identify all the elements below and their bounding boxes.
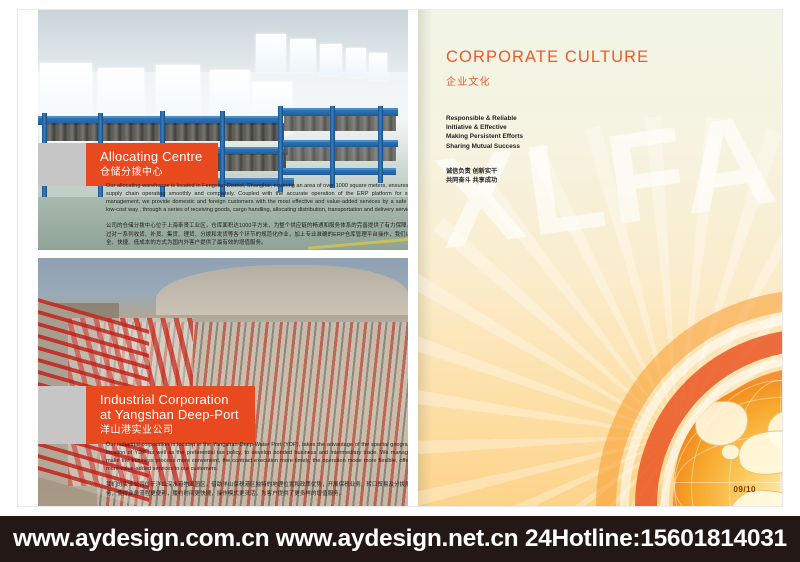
body-text-cn: 我们的实业公司位于洋山深水港物流园区，借助洋山保税港区独特的地理位置和政策优势，…: [106, 481, 408, 498]
value-item: Initiative & Effective: [446, 123, 746, 132]
caption-gray-tab: [38, 143, 86, 186]
value-item: 诚信负责 创新实干: [446, 167, 746, 176]
body-text-en: Our allocating warehouse is located in F…: [106, 182, 408, 214]
page-title: CORPORATE CULTURE: [446, 48, 746, 67]
page-subtitle: 企业文化: [446, 73, 746, 88]
caption-title-en: Allocating Centre: [100, 149, 202, 164]
page-frame: Allocating Centre 仓储分拨中心 Our allocating …: [18, 10, 782, 506]
value-item: Making Persistent Efforts: [446, 132, 746, 141]
section-allocating-centre: Allocating Centre 仓储分拨中心 Our allocating …: [38, 10, 408, 250]
caption-title-cn: 洋山港实业公司: [100, 424, 239, 437]
section-yangshan-deep-port: Industrial Corporation at Yangshan Deep-…: [38, 258, 408, 506]
left-page: Allocating Centre 仓储分拨中心 Our allocating …: [18, 10, 418, 506]
brochure-spread: Allocating Centre 仓储分拨中心 Our allocating …: [0, 0, 800, 516]
caption-gray-tab: [38, 386, 86, 444]
caption-allocating-centre: Allocating Centre 仓储分拨中心: [38, 143, 218, 186]
caption-title-cn: 仓储分拨中心: [100, 166, 202, 179]
bottom-contact-banner: www.aydesign.com.cn www.aydesign.net.cn …: [0, 516, 800, 562]
value-item: Responsible & Reliable: [446, 114, 746, 123]
body-yangshan-deep-port: Our industrial corporation is located in…: [106, 441, 408, 498]
value-item: 共同奋斗 共享成功: [446, 176, 746, 185]
caption-title-en: Industrial Corporation at Yangshan Deep-…: [100, 392, 239, 422]
right-page: XLFA: [418, 10, 782, 506]
corporate-culture-copy: CORPORATE CULTURE 企业文化 Responsible & Rel…: [446, 48, 746, 186]
corporate-values-cn: 诚信负责 创新实干 共同奋斗 共享成功: [446, 167, 746, 186]
page-number: 09/10: [733, 485, 756, 494]
caption-yangshan-deep-port: Industrial Corporation at Yangshan Deep-…: [38, 386, 255, 444]
body-allocating-centre: Our allocating warehouse is located in F…: [106, 182, 408, 248]
body-text-cn: 公司的仓储分拨中心位于上海奉贤工业区，仓库面积达1000平方米，为整个供应链的畅…: [106, 222, 408, 247]
banner-contact-text: www.aydesign.com.cn www.aydesign.net.cn …: [13, 525, 787, 553]
body-text-en: Our industrial corporation is located in…: [106, 441, 408, 473]
value-item: Sharing Mutual Success: [446, 142, 746, 151]
corporate-values-en: Responsible & Reliable Initiative & Effe…: [446, 114, 746, 151]
